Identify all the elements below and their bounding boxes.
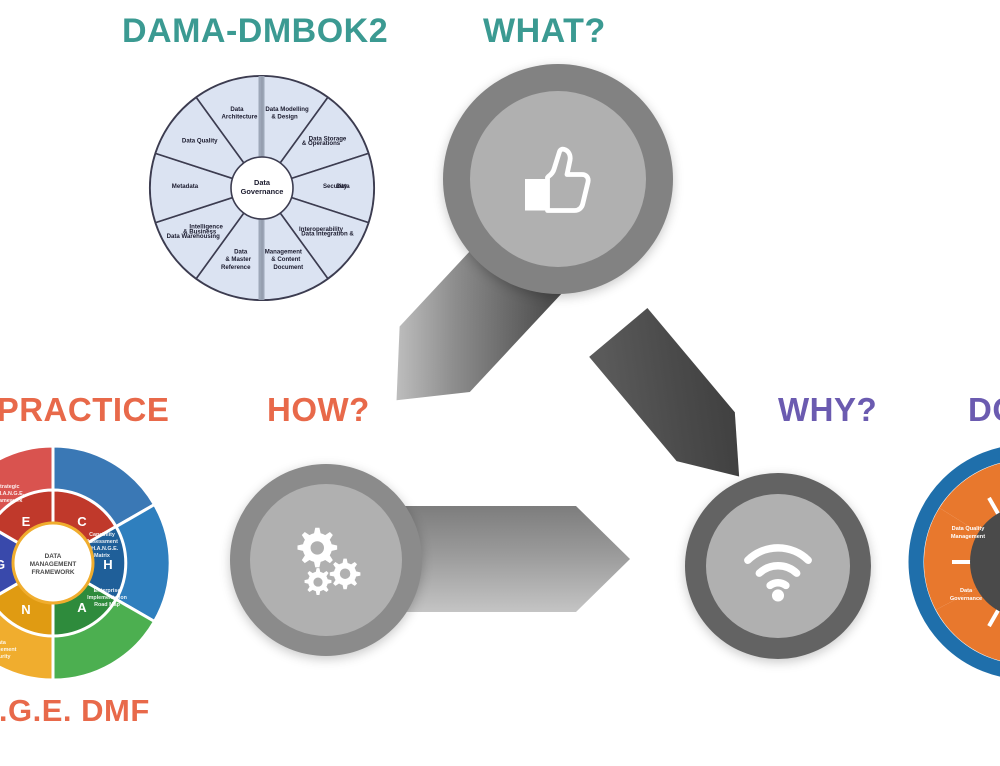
svg-text:Strategic: Strategic bbox=[0, 484, 20, 490]
change-hub-label-1: DATA bbox=[45, 553, 62, 560]
svg-text:C: C bbox=[77, 514, 87, 529]
dama-hub-label-2: Governance bbox=[241, 187, 284, 196]
svg-text:& Operations: & Operations bbox=[302, 140, 341, 147]
gears-icon bbox=[283, 517, 369, 603]
svg-text:N: N bbox=[21, 602, 30, 617]
node-how-circle[interactable] bbox=[230, 464, 422, 656]
svg-text:Security: Security bbox=[323, 183, 348, 190]
node-why-circle[interactable] bbox=[685, 473, 871, 659]
svg-text:& Master: & Master bbox=[225, 256, 251, 263]
svg-text:Management: Management bbox=[265, 249, 302, 256]
svg-text:& Content: & Content bbox=[271, 256, 300, 263]
node-what-inner bbox=[470, 91, 646, 267]
svg-text:Data: Data bbox=[0, 640, 7, 646]
wifi-icon bbox=[732, 520, 824, 612]
node-how-inner bbox=[250, 484, 402, 636]
svg-text:Governance: Governance bbox=[950, 596, 982, 602]
svg-text:Matrix: Matrix bbox=[94, 553, 110, 559]
svg-text:Data: Data bbox=[230, 106, 244, 113]
change-hub-label-3: FRAMEWORK bbox=[32, 569, 75, 576]
svg-text:Road Map: Road Map bbox=[94, 602, 120, 608]
do-wheel: .dt { font-size:5.6px; font-weight:bold;… bbox=[908, 444, 1000, 680]
svg-text:G: G bbox=[0, 557, 5, 572]
thumbs-up-icon bbox=[510, 131, 606, 227]
svg-text:Reference: Reference bbox=[221, 264, 251, 271]
node-why-inner bbox=[706, 494, 850, 638]
diagram-canvas: DAMA-DMBOK2 WHAT? RY PRACTICE HOW? WHY? … bbox=[0, 0, 1000, 766]
svg-text:Assessment: Assessment bbox=[86, 539, 118, 545]
label-how: HOW? bbox=[267, 393, 370, 426]
arrow-how-to-why bbox=[398, 494, 638, 624]
label-do: DO bbox=[968, 393, 1000, 426]
svg-text:Document: Document bbox=[273, 264, 303, 271]
svg-text:Interoperability: Interoperability bbox=[299, 226, 344, 233]
svg-text:Data Modelling: Data Modelling bbox=[265, 106, 309, 113]
node-what-circle[interactable] bbox=[443, 64, 673, 294]
dama-dmbok2-wheel: .seg { fill:#dbe3f2; stroke:#3c3c50; str… bbox=[138, 64, 386, 312]
svg-text:Intelligence: Intelligence bbox=[189, 224, 223, 231]
label-dama-dmbok2: DAMA-DMBOK2 bbox=[122, 14, 388, 48]
svg-text:Data Quality: Data Quality bbox=[952, 526, 986, 532]
svg-text:Enterprise: Enterprise bbox=[94, 588, 121, 594]
svg-text:Management: Management bbox=[0, 647, 17, 653]
svg-text:Framework: Framework bbox=[0, 498, 22, 504]
svg-text:C.H.A.N.G.E.: C.H.A.N.G.E. bbox=[0, 491, 25, 497]
svg-text:Data Quality: Data Quality bbox=[182, 138, 218, 145]
svg-text:Maturity: Maturity bbox=[0, 654, 10, 660]
dama-hub-label-1: Data bbox=[254, 178, 271, 187]
label-change-dmf: A.N.G.E. DMF bbox=[0, 695, 150, 726]
svg-text:H: H bbox=[103, 557, 112, 572]
change-hub-label-2: MANAGEMENT bbox=[30, 561, 77, 568]
svg-text:Data: Data bbox=[960, 588, 973, 594]
svg-text:Architecture: Architecture bbox=[221, 114, 258, 121]
svg-text:Management: Management bbox=[951, 534, 985, 540]
label-why: WHY? bbox=[778, 393, 877, 426]
svg-text:E: E bbox=[22, 514, 31, 529]
svg-text:& Design: & Design bbox=[271, 114, 298, 121]
svg-text:Implementation: Implementation bbox=[87, 595, 127, 601]
label-what: WHAT? bbox=[483, 14, 606, 48]
svg-text:Metadata: Metadata bbox=[172, 183, 199, 190]
svg-text:Capability: Capability bbox=[89, 532, 115, 538]
svg-text:Data: Data bbox=[234, 249, 248, 256]
svg-text:A: A bbox=[77, 600, 87, 615]
change-dmf-wheel: .cs { stroke:#ffffff; stroke-width:3; } … bbox=[0, 432, 184, 694]
label-industry-practice: RY PRACTICE bbox=[0, 393, 169, 426]
